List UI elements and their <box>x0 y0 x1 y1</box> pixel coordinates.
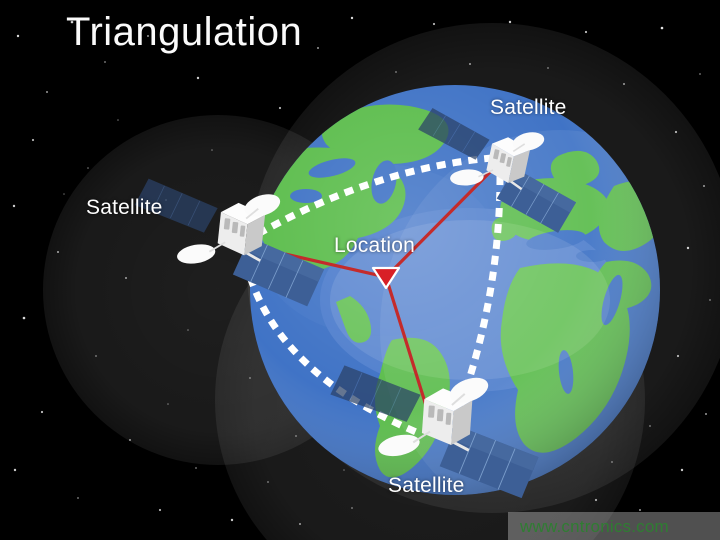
diagram-canvas <box>0 0 720 540</box>
triangulation-diagram: Triangulation Satellite Satellite Satell… <box>0 0 720 540</box>
watermark-text: www.cntronics.com <box>520 517 669 537</box>
